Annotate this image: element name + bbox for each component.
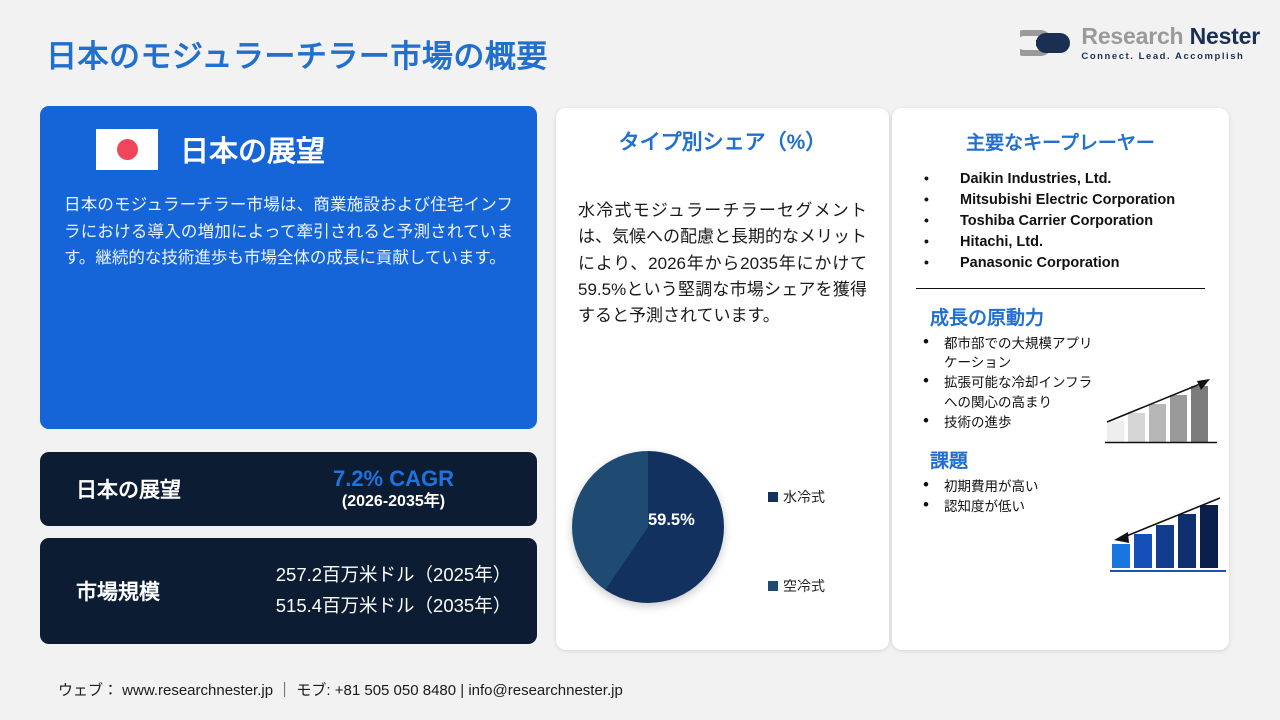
legend-item-air-cooled: 空冷式 xyxy=(768,576,888,596)
cagr-stat-label: 日本の展望 xyxy=(40,474,250,504)
list-item: Hitachi, Ltd. xyxy=(922,232,1213,253)
bar xyxy=(1134,534,1152,568)
list-item: Panasonic Corporation xyxy=(922,253,1213,274)
japan-outlook-card: 日本の展望 日本のモジュラーチラー市場は、商業施設および住宅インフラにおける導入… xyxy=(40,106,537,429)
bar xyxy=(1112,544,1130,568)
outlook-card-title: 日本の展望 xyxy=(180,128,325,170)
market-size-2025: 257.2百万米ドル（2025年） xyxy=(250,560,537,591)
challenges-list: 初期費用が高い 認知度が低い xyxy=(918,477,1098,516)
growth-trend-bar-chart xyxy=(1105,372,1227,450)
pie-chart-legend: 水冷式 空冷式 xyxy=(768,443,888,596)
bar xyxy=(1149,404,1166,442)
share-card-body: 水冷式モジュラーチラーセグメントは、気候への配慮と長期的なメリットにより、202… xyxy=(578,198,867,330)
legend-item-water-cooled: 水冷式 xyxy=(768,487,888,507)
legend-label-water-cooled: 水冷式 xyxy=(783,487,825,507)
outlook-card-body: 日本のモジュラーチラー市場は、商業施設および住宅インフラにおける導入の増加によっ… xyxy=(64,192,513,272)
key-players-title: 主要なキープレーヤー xyxy=(908,128,1213,155)
list-item: 技術の進歩 xyxy=(918,413,1098,432)
cagr-stat-value-group: 7.2% CAGR (2026-2035年) xyxy=(250,465,537,513)
cagr-value: 7.2% CAGR xyxy=(250,465,537,493)
list-item: 初期費用が高い xyxy=(918,477,1098,496)
growth-drivers-title: 成長の原動力 xyxy=(908,303,1213,330)
list-item: 都市部での大規模アプリケーション xyxy=(918,334,1098,372)
logo-name-research: Research xyxy=(1081,23,1183,49)
market-size-value-group: 257.2百万米ドル（2025年） 515.4百万米ドル（2035年） xyxy=(250,560,537,621)
legend-swatch-water-cooled xyxy=(768,492,778,502)
logo-name-nester: Nester xyxy=(1190,23,1260,49)
link-chain-logo-icon xyxy=(1020,27,1072,59)
list-item: Daikin Industries, Ltd. xyxy=(922,169,1213,190)
market-size-label: 市場規模 xyxy=(40,576,250,606)
market-size-2035: 515.4百万米ドル（2035年） xyxy=(250,591,537,622)
logo-tagline: Connect. Lead. Accomplish xyxy=(1081,52,1260,62)
key-players-list: Daikin Industries, Ltd. Mitsubishi Elect… xyxy=(922,169,1213,274)
page-header: 日本のモジュラーチラー市場の概要 Research Nester Connect… xyxy=(0,0,1280,98)
growth-drivers-list: 都市部での大規模アプリケーション 拡張可能な冷却インフラへの関心の高まり 技術の… xyxy=(918,334,1098,432)
brand-logo: Research Nester Connect. Lead. Accomplis… xyxy=(1020,25,1260,62)
list-item: 拡張可能な冷却インフラへの関心の高まり xyxy=(918,373,1098,411)
cagr-stat-card: 日本の展望 7.2% CAGR (2026-2035年) xyxy=(40,452,537,526)
outlook-card-header: 日本の展望 xyxy=(96,128,513,170)
pie-slice-label-water-cooled: 59.5% xyxy=(648,511,695,530)
legend-label-air-cooled: 空冷式 xyxy=(783,576,825,596)
page-title: 日本のモジュラーチラー市場の概要 xyxy=(46,31,548,76)
legend-swatch-air-cooled xyxy=(768,581,778,591)
share-card-title: タイプ別シェア（%） xyxy=(578,126,867,156)
bar xyxy=(1170,395,1187,442)
list-item: 認知度が低い xyxy=(918,497,1098,516)
bar xyxy=(1107,421,1124,442)
market-size-stat-card: 市場規模 257.2百万米ドル（2025年） 515.4百万米ドル（2035年） xyxy=(40,538,537,644)
japan-flag-icon xyxy=(96,129,158,170)
bar xyxy=(1200,505,1218,568)
footer-contact: ウェブ： www.researchnester.jp ｜ モブ: +81 505… xyxy=(58,679,623,700)
down-left-arrow-icon xyxy=(1114,532,1129,543)
share-by-type-card: タイプ別シェア（%） 水冷式モジュラーチラーセグメントは、気候への配慮と長期的な… xyxy=(556,108,889,650)
challenge-trend-bar-chart xyxy=(1108,492,1228,578)
list-item: Toshiba Carrier Corporation xyxy=(922,211,1213,232)
pie-chart: 59.5% 水冷式 空冷式 xyxy=(556,443,889,643)
section-divider xyxy=(916,288,1205,289)
list-item: Mitsubishi Electric Corporation xyxy=(922,190,1213,211)
bar xyxy=(1191,386,1208,442)
bar xyxy=(1178,514,1196,568)
japan-flag-sun xyxy=(117,139,138,160)
cagr-period: (2026-2035年) xyxy=(250,492,537,513)
bar xyxy=(1128,413,1145,442)
bar xyxy=(1156,525,1174,568)
